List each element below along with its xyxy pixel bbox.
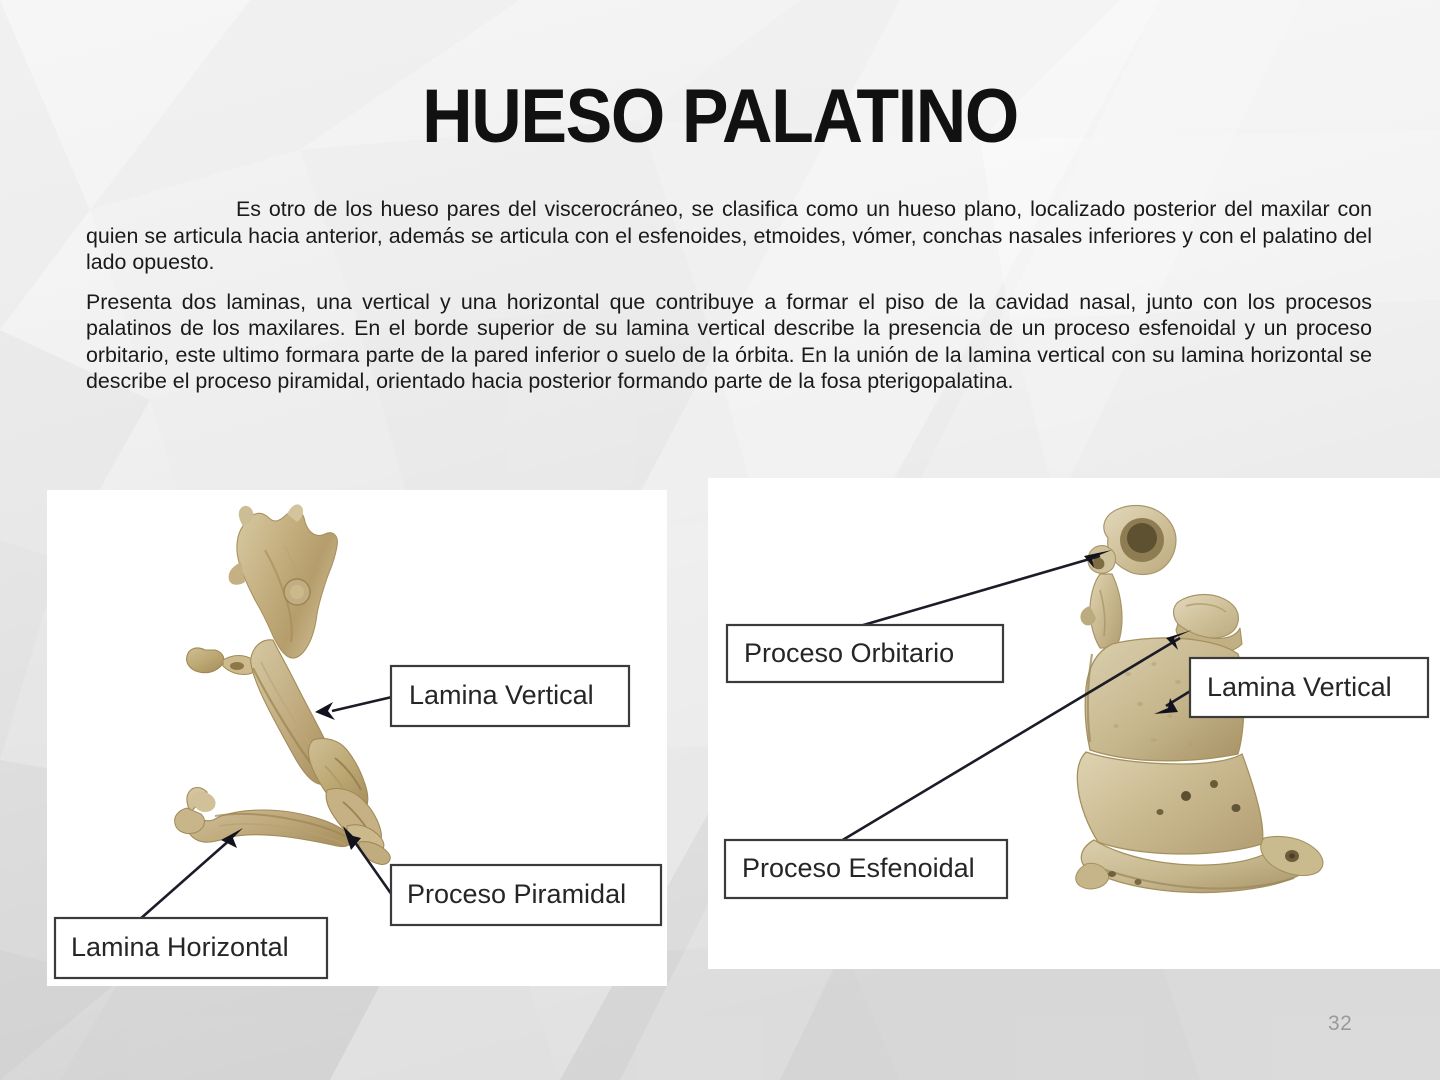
palatine-bone-posterior-view-svg: Proceso Orbitario Lamina Vertical Proces…	[708, 478, 1440, 969]
paragraph-1: Es otro de los hueso pares del viscerocr…	[86, 196, 1372, 276]
palatine-bone-medial-view-svg: Lamina Vertical Proceso Piramidal Lamina…	[47, 490, 667, 986]
callout-label-proceso-esfenoidal: Proceso Esfenoidal	[742, 853, 975, 883]
slide-canvas: HUESO PALATINO Es otro de los hueso pare…	[0, 0, 1440, 1080]
callout-label-proceso-piramidal: Proceso Piramidal	[407, 879, 626, 909]
callout-lamina-vertical-right: Lamina Vertical	[1154, 658, 1428, 717]
page-title: HUESO PALATINO	[58, 78, 1383, 156]
callout-label-lamina-horizontal: Lamina Horizontal	[71, 932, 289, 962]
callout-label-lamina-vertical: Lamina Vertical	[409, 680, 594, 710]
page-number: 32	[1328, 1012, 1352, 1036]
callout-label-lamina-vertical-right: Lamina Vertical	[1207, 672, 1392, 702]
paragraph-2: Presenta dos laminas, una vertical y una…	[86, 289, 1372, 395]
figure-panel-left: Lamina Vertical Proceso Piramidal Lamina…	[47, 490, 667, 986]
figure-panel-right: Proceso Orbitario Lamina Vertical Proces…	[708, 478, 1440, 969]
body-text: Es otro de los hueso pares del viscerocr…	[86, 196, 1372, 408]
callout-label-proceso-orbitario: Proceso Orbitario	[744, 638, 954, 668]
